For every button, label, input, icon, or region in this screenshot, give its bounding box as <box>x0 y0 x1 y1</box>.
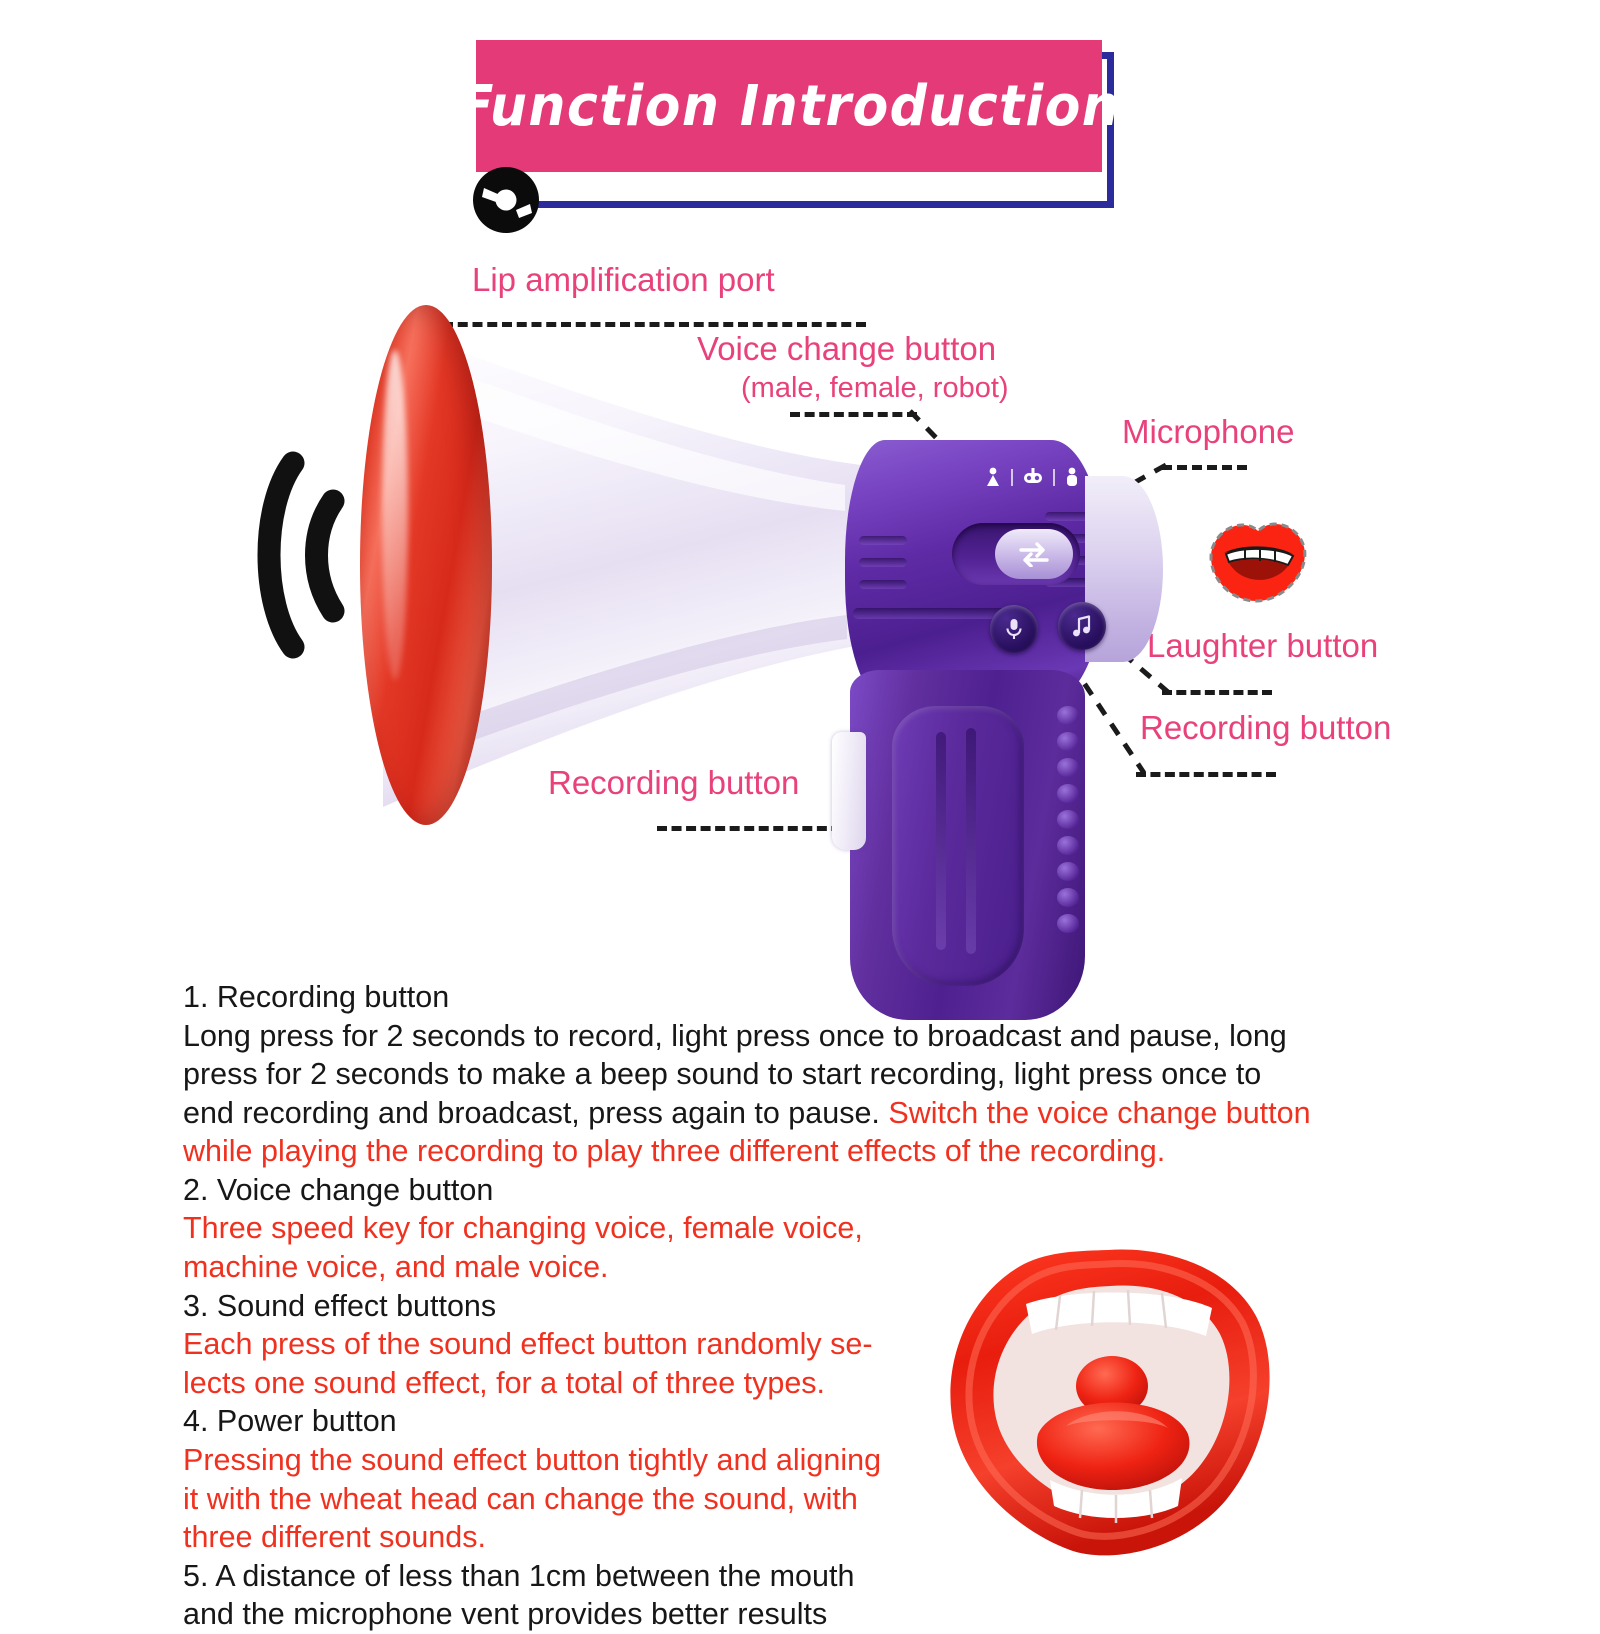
instruction-heading-3: 3. Sound effect buttons <box>183 1287 883 1326</box>
instruction-body-4: Pressing the sound effect button tightly… <box>183 1441 883 1557</box>
instruction-heading-4: 4. Power button <box>183 1402 883 1441</box>
handle-grip-pad <box>892 706 1024 986</box>
banner-fill: Function Introduction <box>476 40 1102 172</box>
laughter-sound-button[interactable] <box>1058 602 1106 650</box>
megaphone-product-image <box>240 280 1160 1020</box>
callout-recording-button-right: Recording button <box>1140 710 1391 747</box>
recording-trigger-button[interactable] <box>832 732 866 850</box>
instruction-body-1: Long press for 2 seconds to record, ligh… <box>183 1017 1313 1171</box>
music-note-icon <box>1071 614 1093 638</box>
voice-change-slider-knob[interactable] <box>995 529 1073 579</box>
voice-mode-pictograms <box>982 466 1082 488</box>
sound-waves-icon <box>245 445 355 665</box>
pictogram-separator-1 <box>1011 469 1013 486</box>
page-title: Function Introduction <box>458 74 1120 139</box>
megaphone-handle <box>850 670 1085 1020</box>
instruction-heading-5: 5. A distance of less than 1cm between t… <box>183 1557 883 1634</box>
instruction-heading-1: 1. Recording button <box>183 978 1313 1017</box>
cd-disc-icon <box>470 164 542 236</box>
horn-rim-highlight <box>382 350 408 680</box>
callout-laughter-button: Laughter button <box>1147 628 1378 665</box>
header-banner: Function Introduction <box>470 36 1140 226</box>
voice-change-slider[interactable] <box>952 523 1080 585</box>
lips-sticker-icon <box>1198 505 1316 613</box>
male-figure-icon <box>1062 466 1082 488</box>
instruction-body-2: Three speed key for changing voice, fema… <box>183 1209 883 1286</box>
robot-figure-icon <box>1020 466 1046 488</box>
female-figure-icon <box>982 466 1004 488</box>
microphone-icon <box>1003 617 1025 641</box>
swap-arrows-icon <box>1017 541 1051 567</box>
leader-line-microphone-h <box>1162 465 1247 470</box>
recording-round-button[interactable] <box>990 605 1038 653</box>
horn-red-rim <box>360 305 492 825</box>
instruction-heading-2: 2. Voice change button <box>183 1171 883 1210</box>
pictogram-separator-2 <box>1053 469 1055 486</box>
leader-line-laughter-h <box>1162 690 1272 695</box>
instruction-body-3: Each press of the sound effect button ra… <box>183 1325 883 1402</box>
open-mouth-toy-photo <box>930 1238 1290 1568</box>
